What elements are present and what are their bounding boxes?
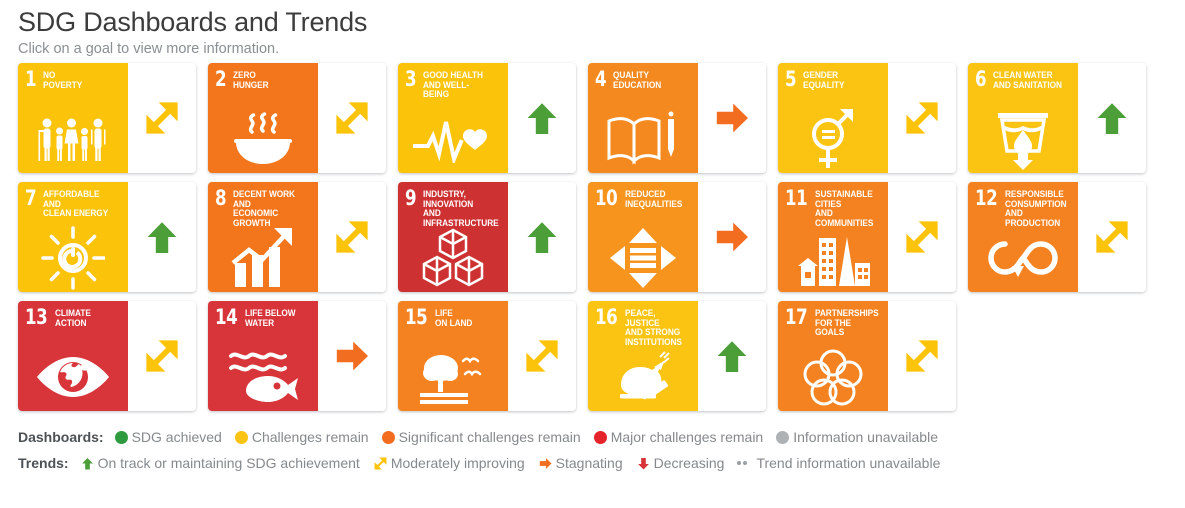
goal-title: PARTNERSHIPS FOR THE GOALS	[815, 308, 879, 338]
goal-number: 3	[405, 70, 416, 88]
trend-indicator-moderately-improving[interactable]	[888, 182, 956, 292]
goal-color-panel: 15LIFE ON LAND	[398, 301, 508, 411]
goal-heading: 3GOOD HEALTH AND WELL-BEING	[405, 70, 502, 100]
goal-card-14[interactable]: 14LIFE BELOW WATER	[208, 301, 386, 411]
goal-title: QUALITY EDUCATION	[613, 70, 661, 90]
goal-row-1: 1NO POVERTY 2ZERO HUNGER 3GOOD HEALTH AN…	[18, 63, 1185, 173]
cities-buildings-icon	[778, 227, 888, 289]
water-glass-drop-icon	[968, 108, 1078, 170]
health-heartbeat-icon	[398, 108, 508, 170]
goal-card-16[interactable]: 16PEACE, JUSTICE AND STRONG INSTITUTIONS	[588, 301, 766, 411]
trend-indicator-on-track[interactable]	[128, 182, 196, 292]
trend-indicator-moderately-improving[interactable]	[888, 301, 956, 411]
goal-heading: 7AFFORDABLE AND CLEAN ENERGY	[25, 189, 122, 219]
trend-indicator-moderately-improving[interactable]	[318, 182, 386, 292]
industry-cubes-icon	[398, 227, 508, 289]
inequalities-arrows-icon	[588, 227, 698, 289]
goal-card-6[interactable]: 6CLEAN WATER AND SANITATION	[968, 63, 1146, 173]
goal-number: 6	[975, 70, 986, 88]
goal-number: 7	[25, 189, 36, 207]
goal-color-panel: 2ZERO HUNGER	[208, 63, 318, 173]
goal-heading: 9INDUSTRY, INNOVATION AND INFRASTRUCTURE	[405, 189, 502, 228]
goal-number: 1	[25, 70, 36, 88]
goal-color-panel: 12RESPONSIBLE CONSUMPTION AND PRODUCTION	[968, 182, 1078, 292]
goal-color-panel: 6CLEAN WATER AND SANITATION	[968, 63, 1078, 173]
legend-trend-item: Decreasing	[636, 455, 725, 471]
goal-heading: 17PARTNERSHIPS FOR THE GOALS	[785, 308, 882, 338]
legend-item-label: On track or maintaining SDG achievement	[98, 455, 360, 471]
goal-heading: 4QUALITY EDUCATION	[595, 70, 692, 90]
trend-arrow-up-right-icon	[373, 455, 388, 471]
goal-title: NO POVERTY	[43, 70, 82, 90]
trend-arrow-down-icon	[636, 455, 651, 471]
legend-trend-item: Moderately improving	[373, 455, 525, 471]
legend-trend-item: Trend information unavailable	[737, 455, 940, 471]
goal-card-1[interactable]: 1NO POVERTY	[18, 63, 196, 173]
trend-indicator-stagnating[interactable]	[318, 301, 386, 411]
legend-dashboard-item: Information unavailable	[776, 429, 938, 445]
legend-dashboard-item: Challenges remain	[235, 429, 369, 445]
goal-color-panel: 13CLIMATE ACTION	[18, 301, 128, 411]
legend-item-label: SDG achieved	[132, 429, 222, 445]
goal-title: SUSTAINABLE CITIES AND COMMUNITIES	[815, 189, 875, 228]
legend-item-label: Major challenges remain	[611, 429, 764, 445]
goal-heading: 6CLEAN WATER AND SANITATION	[975, 70, 1072, 90]
sdg-goal-grid: 1NO POVERTY 2ZERO HUNGER 3GOOD HEALTH AN…	[0, 59, 1185, 411]
trend-arrow-up-icon	[80, 455, 95, 471]
goal-card-5[interactable]: 5GENDER EQUALITY	[778, 63, 956, 173]
education-book-pencil-icon	[588, 108, 698, 170]
goal-color-panel: 7AFFORDABLE AND CLEAN ENERGY	[18, 182, 128, 292]
goal-heading: 15LIFE ON LAND	[405, 308, 502, 328]
legend-trend-item: On track or maintaining SDG achievement	[80, 455, 360, 471]
goal-heading: 5GENDER EQUALITY	[785, 70, 882, 90]
legend-row-trends: Trends: On track or maintaining SDG achi…	[18, 450, 1185, 476]
trend-indicator-moderately-improving[interactable]	[318, 63, 386, 173]
goal-color-panel: 16PEACE, JUSTICE AND STRONG INSTITUTIONS	[588, 301, 698, 411]
goal-title: PEACE, JUSTICE AND STRONG INSTITUTIONS	[625, 308, 685, 347]
legend-color-dot	[594, 431, 607, 444]
legend-trends-label: Trends:	[18, 455, 69, 471]
goal-card-11[interactable]: 11SUSTAINABLE CITIES AND COMMUNITIES	[778, 182, 956, 292]
goal-heading: 1NO POVERTY	[25, 70, 122, 90]
trend-indicator-moderately-improving[interactable]	[128, 63, 196, 173]
goal-title: GENDER EQUALITY	[803, 70, 844, 90]
goal-card-12[interactable]: 12RESPONSIBLE CONSUMPTION AND PRODUCTION	[968, 182, 1146, 292]
goal-title: ZERO HUNGER	[233, 70, 269, 90]
goal-number: 16	[595, 308, 617, 326]
goal-title: RESPONSIBLE CONSUMPTION AND PRODUCTION	[1005, 189, 1067, 228]
legend-color-dot	[115, 431, 128, 444]
goal-number: 15	[405, 308, 427, 326]
goal-number: 4	[595, 70, 606, 88]
goal-color-panel: 5GENDER EQUALITY	[778, 63, 888, 173]
legend-dashboard-item: Significant challenges remain	[382, 429, 581, 445]
legend-row-dashboards: Dashboards: SDG achievedChallenges remai…	[18, 424, 1185, 450]
consumption-infinity-icon	[968, 227, 1078, 289]
goal-title: INDUSTRY, INNOVATION AND INFRASTRUCTURE	[423, 189, 499, 228]
trend-arrow-right-icon	[538, 455, 553, 471]
goal-heading: 13CLIMATE ACTION	[25, 308, 122, 328]
goal-card-4[interactable]: 4QUALITY EDUCATION	[588, 63, 766, 173]
goal-card-13[interactable]: 13CLIMATE ACTION	[18, 301, 196, 411]
goal-row-3: 13CLIMATE ACTION 14LIFE BELOW WATER 15LI…	[18, 301, 1185, 411]
trend-indicator-moderately-improving[interactable]	[508, 301, 576, 411]
goal-heading: 10REDUCED INEQUALITIES	[595, 189, 692, 209]
trend-indicator-on-track[interactable]	[698, 301, 766, 411]
growth-chart-arrow-icon	[208, 227, 318, 289]
goal-color-panel: 9INDUSTRY, INNOVATION AND INFRASTRUCTURE	[398, 182, 508, 292]
goal-card-17[interactable]: 17PARTNERSHIPS FOR THE GOALS	[778, 301, 956, 411]
legend-item-label: Challenges remain	[252, 429, 369, 445]
ocean-fish-waves-icon	[208, 346, 318, 408]
goal-card-3[interactable]: 3GOOD HEALTH AND WELL-BEING	[398, 63, 576, 173]
goal-color-panel: 3GOOD HEALTH AND WELL-BEING	[398, 63, 508, 173]
goal-number: 17	[785, 308, 807, 326]
goal-card-8[interactable]: 8DECENT WORK AND ECONOMIC GROWTH	[208, 182, 386, 292]
goal-title: DECENT WORK AND ECONOMIC GROWTH	[233, 189, 304, 228]
goal-card-10[interactable]: 10REDUCED INEQUALITIES	[588, 182, 766, 292]
peace-dove-gavel-icon	[588, 346, 698, 408]
legend-item-label: Trend information unavailable	[756, 455, 940, 471]
page-subtitle: Click on a goal to view more information…	[18, 39, 1185, 59]
goal-title: GOOD HEALTH AND WELL-BEING	[423, 70, 494, 100]
legend-item-label: Information unavailable	[793, 429, 938, 445]
page-title: SDG Dashboards and Trends	[18, 6, 1185, 38]
goal-number: 8	[215, 189, 226, 207]
legend-dashboard-item: Major challenges remain	[594, 429, 764, 445]
goal-color-panel: 1NO POVERTY	[18, 63, 128, 173]
goal-number: 5	[785, 70, 796, 88]
hunger-bowl-icon	[208, 108, 318, 170]
goal-title: CLEAN WATER AND SANITATION	[993, 70, 1062, 90]
goal-title: LIFE ON LAND	[435, 308, 472, 328]
land-tree-birds-icon	[398, 346, 508, 408]
goal-title: REDUCED INEQUALITIES	[625, 189, 682, 209]
goal-number: 13	[25, 308, 47, 326]
goal-color-panel: 4QUALITY EDUCATION	[588, 63, 698, 173]
poverty-family-icon	[18, 108, 128, 170]
goal-number: 10	[595, 189, 617, 207]
trend-indicator-moderately-improving[interactable]	[888, 63, 956, 173]
goal-heading: 2ZERO HUNGER	[215, 70, 312, 90]
gender-equality-icon	[778, 108, 888, 170]
legend-item-label: Significant challenges remain	[399, 429, 581, 445]
partnerships-rings-icon	[778, 346, 888, 408]
goal-heading: 11SUSTAINABLE CITIES AND COMMUNITIES	[785, 189, 882, 228]
legend-dashboard-item: SDG achieved	[115, 429, 222, 445]
legend-color-dot	[235, 431, 248, 444]
goal-number: 14	[215, 308, 237, 326]
goal-card-2[interactable]: 2ZERO HUNGER	[208, 63, 386, 173]
legend-item-label: Moderately improving	[391, 455, 525, 471]
goal-color-panel: 10REDUCED INEQUALITIES	[588, 182, 698, 292]
trend-indicator-on-track[interactable]	[508, 182, 576, 292]
goal-card-9[interactable]: 9INDUSTRY, INNOVATION AND INFRASTRUCTURE	[398, 182, 576, 292]
energy-sun-power-icon	[18, 227, 128, 289]
goal-number: 9	[405, 189, 416, 207]
goal-heading: 14LIFE BELOW WATER	[215, 308, 312, 328]
goal-color-panel: 17PARTNERSHIPS FOR THE GOALS	[778, 301, 888, 411]
goal-heading: 12RESPONSIBLE CONSUMPTION AND PRODUCTION	[975, 189, 1072, 228]
legend-item-label: Stagnating	[556, 455, 623, 471]
trend-unavailable-dots-icon	[737, 456, 753, 470]
goal-heading: 16PEACE, JUSTICE AND STRONG INSTITUTIONS	[595, 308, 692, 347]
legend-trend-item: Stagnating	[538, 455, 623, 471]
goal-number: 11	[785, 189, 807, 207]
trend-indicator-on-track[interactable]	[1078, 63, 1146, 173]
goal-card-7[interactable]: 7AFFORDABLE AND CLEAN ENERGY	[18, 182, 196, 292]
climate-eye-globe-icon	[18, 346, 128, 408]
goal-color-panel: 11SUSTAINABLE CITIES AND COMMUNITIES	[778, 182, 888, 292]
legend-item-label: Decreasing	[654, 455, 725, 471]
goal-title: AFFORDABLE AND CLEAN ENERGY	[43, 189, 114, 219]
goal-number: 2	[215, 70, 226, 88]
goal-card-15[interactable]: 15LIFE ON LAND	[398, 301, 576, 411]
trend-indicator-on-track[interactable]	[508, 63, 576, 173]
goal-color-panel: 14LIFE BELOW WATER	[208, 301, 318, 411]
legend-dashboards-label: Dashboards:	[18, 429, 104, 445]
trend-indicator-stagnating[interactable]	[698, 182, 766, 292]
goal-color-panel: 8DECENT WORK AND ECONOMIC GROWTH	[208, 182, 318, 292]
trend-indicator-moderately-improving[interactable]	[128, 301, 196, 411]
goal-title: LIFE BELOW WATER	[245, 308, 296, 328]
legend: Dashboards: SDG achievedChallenges remai…	[0, 420, 1185, 476]
goal-title: CLIMATE ACTION	[55, 308, 91, 328]
goal-row-2: 7AFFORDABLE AND CLEAN ENERGY 8DECENT WOR…	[18, 182, 1185, 292]
legend-color-dot	[776, 431, 789, 444]
goal-number: 12	[975, 189, 997, 207]
page-header: SDG Dashboards and Trends Click on a goa…	[0, 0, 1185, 59]
goal-heading: 8DECENT WORK AND ECONOMIC GROWTH	[215, 189, 312, 228]
trend-indicator-moderately-improving[interactable]	[1078, 182, 1146, 292]
legend-color-dot	[382, 431, 395, 444]
trend-indicator-stagnating[interactable]	[698, 63, 766, 173]
